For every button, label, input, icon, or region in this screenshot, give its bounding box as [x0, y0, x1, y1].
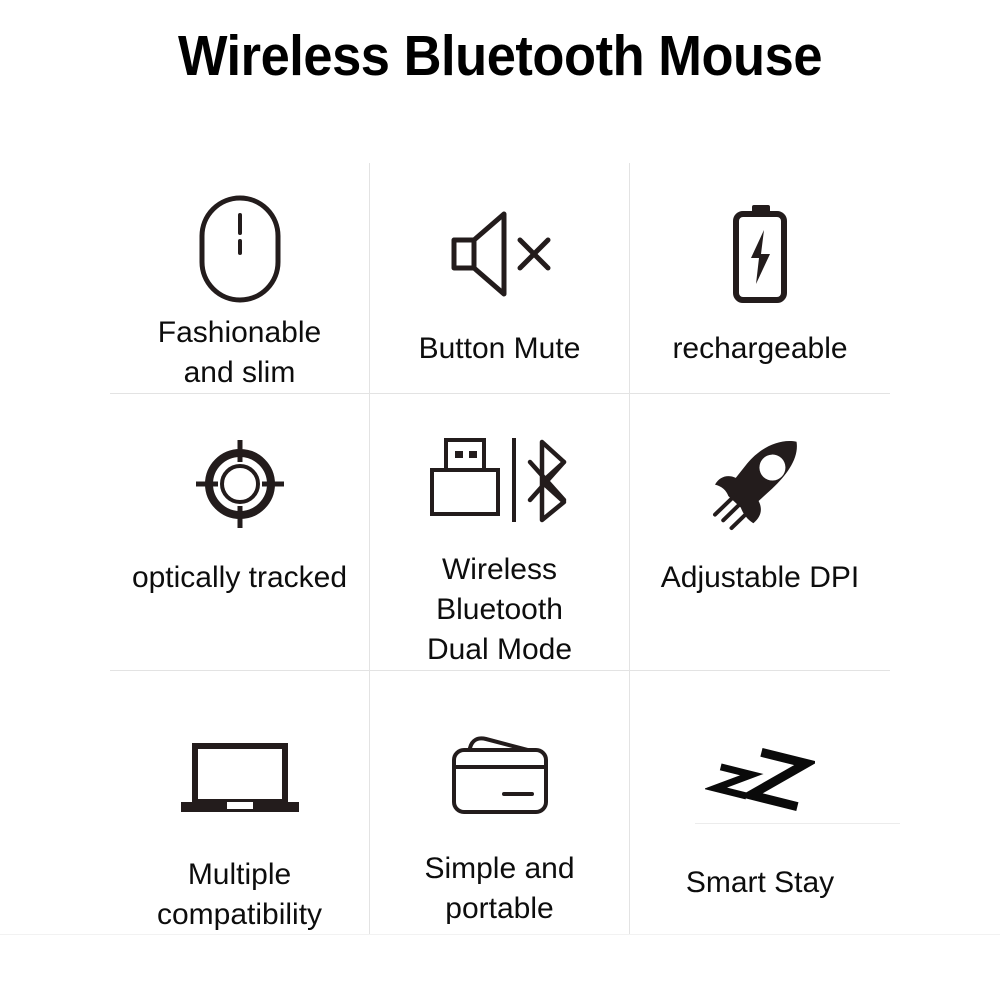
feature-cell-adjustable-dpi: Adjustable DPI [630, 394, 890, 671]
carry-bag-icon [448, 687, 552, 849]
rocket-icon [710, 410, 810, 558]
image-seam-divider [0, 934, 1000, 935]
feature-label: optically tracked [132, 558, 347, 598]
feature-label: Fashionable and slim [158, 313, 321, 393]
feature-cell-smart-stay: Smart Stay [630, 671, 890, 935]
product-feature-infographic: Wireless Bluetooth Mouse Fashionable and… [0, 0, 1000, 1000]
feature-cell-multiple-compatibility: Multiple compatibility [110, 671, 370, 935]
page-title: Wireless Bluetooth Mouse [40, 22, 960, 90]
feature-label: Multiple compatibility [157, 855, 322, 935]
speaker-mute-icon [446, 179, 554, 329]
battery-charging-icon [727, 179, 793, 329]
feature-cell-button-mute: Button Mute [370, 163, 630, 394]
usb-dongle-bluetooth-icon [424, 410, 576, 550]
feature-grid: Fashionable and slim Button Mute [110, 163, 890, 855]
mouse-icon [197, 179, 283, 319]
feature-cell-fashionable-and-slim: Fashionable and slim [110, 163, 370, 394]
divider-line-smart-stay [695, 823, 900, 824]
laptop-icon [179, 687, 301, 855]
feature-label: Wireless Bluetooth Dual Mode [375, 550, 625, 670]
feature-cell-wireless-bluetooth-dual-mode: Wireless Bluetooth Dual Mode [370, 394, 630, 671]
feature-label: Button Mute [419, 329, 581, 369]
feature-cell-rechargeable: rechargeable [630, 163, 890, 394]
feature-cell-simple-and-portable: Simple and portable [370, 671, 630, 935]
feature-label: Adjustable DPI [661, 558, 859, 598]
sleep-zz-icon [705, 687, 815, 867]
feature-cell-optically-tracked: optically tracked [110, 394, 370, 671]
feature-label: rechargeable [672, 329, 847, 369]
crosshair-target-icon [190, 410, 290, 558]
feature-label: Simple and portable [424, 849, 574, 929]
feature-label: Smart Stay [686, 863, 834, 903]
